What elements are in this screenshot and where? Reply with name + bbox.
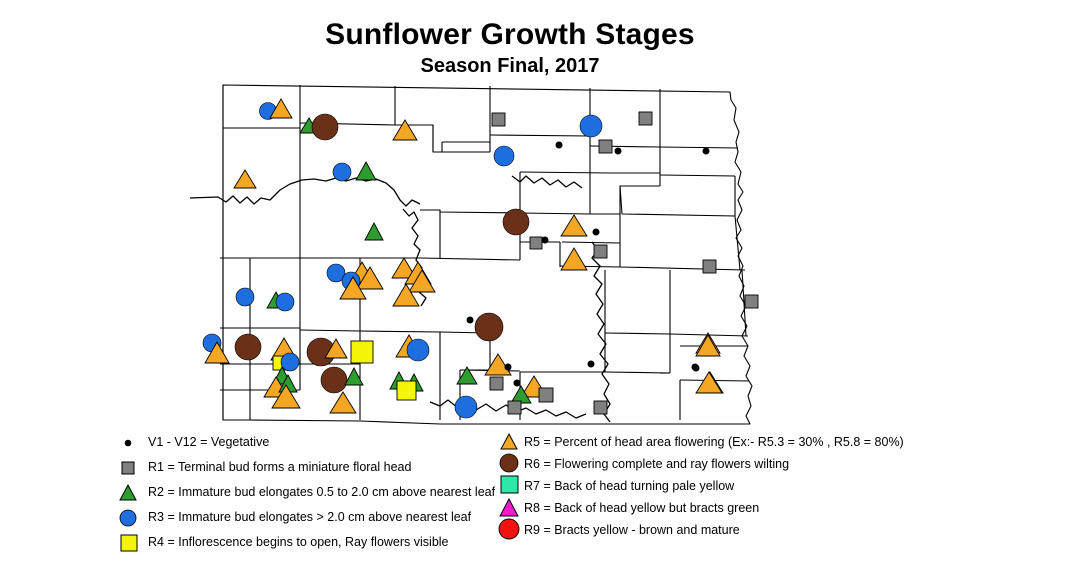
marker-v (615, 148, 622, 155)
legend-item-r6: R6 = Flowering complete and ray flowers … (498, 452, 1018, 474)
yellow-square-icon (118, 530, 144, 555)
green-triangle-icon (118, 480, 144, 505)
marker-r1 (492, 113, 505, 126)
marker-v (542, 237, 549, 244)
marker-r1 (530, 237, 542, 249)
legend-item-r3: R3 = Immature bud elongates > 2.0 cm abo… (118, 505, 518, 530)
blue-circle-icon (118, 505, 144, 530)
map-svg (190, 80, 790, 430)
marker-v (703, 148, 710, 155)
marker-v (505, 364, 512, 371)
marker-r3 (455, 396, 477, 418)
legend-label-r3: R3 = Immature bud elongates > 2.0 cm abo… (148, 505, 471, 530)
legend-item-r9: R9 = Bracts yellow - brown and mature (498, 518, 1018, 540)
marker-r1 (703, 260, 716, 273)
marker-v (556, 142, 563, 149)
marker-r6 (312, 114, 338, 140)
marker-v (514, 380, 521, 387)
marker-r6 (235, 334, 261, 360)
legend-item-r2: R2 = Immature bud elongates 0.5 to 2.0 c… (118, 480, 518, 505)
marker-r6 (321, 367, 347, 393)
marker-r3 (333, 163, 351, 181)
legend-label-v: V1 - V12 = Vegetative (148, 430, 269, 455)
page-subtitle: Season Final, 2017 (0, 54, 1020, 78)
screenshot-root: Sunflower Growth Stages Season Final, 20… (0, 0, 1066, 565)
marker-r1 (594, 401, 607, 414)
legend-item-r1: R1 = Terminal bud forms a miniature flor… (118, 455, 518, 480)
legend-column-right: R5 = Percent of head area flowering (Ex:… (498, 430, 1018, 540)
title-block: Sunflower Growth Stages Season Final, 20… (0, 18, 1020, 78)
marker-v (588, 361, 595, 368)
marker-r3 (276, 293, 294, 311)
marker-v (467, 317, 474, 324)
marker-r3 (407, 339, 429, 361)
marker-r3 (580, 115, 602, 137)
legend-item-r5: R5 = Percent of head area flowering (Ex:… (498, 430, 1018, 452)
marker-r6 (503, 209, 529, 235)
legend: V1 - V12 = Vegetative R1 = Terminal bud … (0, 430, 1066, 555)
marker-r1 (745, 295, 758, 308)
red-circle-icon (498, 518, 524, 543)
marker-r6 (475, 313, 503, 341)
legend-item-v: V1 - V12 = Vegetative (118, 430, 518, 455)
vegetative-dot-icon (118, 430, 144, 455)
marker-r1 (599, 140, 612, 153)
gray-square-icon (118, 455, 144, 480)
marker-v (593, 229, 600, 236)
marker-r3 (236, 288, 254, 306)
marker-r1 (639, 112, 652, 125)
legend-label-r9: R9 = Bracts yellow - brown and mature (524, 518, 740, 543)
marker-v (693, 365, 700, 372)
marker-r1 (539, 388, 553, 402)
legend-item-r8: R8 = Back of head yellow but bracts gree… (498, 496, 1018, 518)
page-title: Sunflower Growth Stages (0, 18, 1020, 52)
marker-r4 (351, 341, 373, 363)
marker-r1 (490, 377, 503, 390)
legend-item-r4: R4 = Inflorescence begins to open, Ray f… (118, 530, 518, 555)
legend-label-r2: R2 = Immature bud elongates 0.5 to 2.0 c… (148, 480, 495, 505)
legend-item-r7: R7 = Back of head turning pale yellow (498, 474, 1018, 496)
legend-label-r1: R1 = Terminal bud forms a miniature flor… (148, 455, 411, 480)
marker-r3 (494, 146, 514, 166)
legend-label-r4: R4 = Inflorescence begins to open, Ray f… (148, 530, 449, 555)
legend-column-left: V1 - V12 = Vegetative R1 = Terminal bud … (118, 430, 518, 555)
marker-r1 (508, 401, 521, 414)
marker-r1 (594, 245, 607, 258)
marker-r4 (397, 381, 416, 400)
north-dakota-map (190, 80, 790, 430)
marker-r3 (281, 353, 299, 371)
